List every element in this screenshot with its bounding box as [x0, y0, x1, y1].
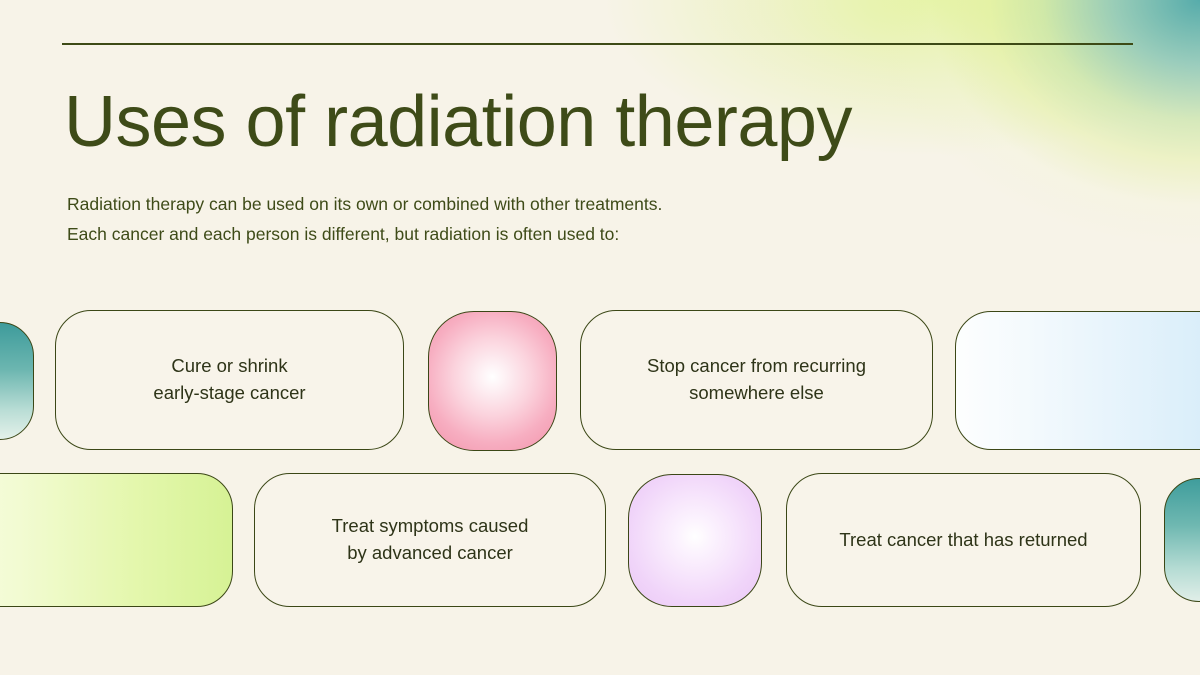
- card-stop-recurring[interactable]: Stop cancer from recurring somewhere els…: [580, 310, 933, 450]
- subtitle-line-1: Radiation therapy can be used on its own…: [67, 189, 1027, 219]
- card-treat-returned-text: Treat cancer that has returned: [821, 527, 1105, 554]
- corner-gradient-decoration: [560, 0, 1200, 330]
- card-treat-returned-line-1: Treat cancer that has returned: [839, 527, 1087, 554]
- decoration-teal-blob-left: [0, 322, 34, 440]
- decoration-pink-blob: [428, 311, 557, 451]
- card-treat-returned[interactable]: Treat cancer that has returned: [786, 473, 1141, 607]
- card-cure-shrink-text: Cure or shrink early-stage cancer: [135, 353, 323, 407]
- decoration-green-card-left: [0, 473, 233, 607]
- card-stop-recurring-line-2: somewhere else: [647, 380, 866, 407]
- card-treat-symptoms-text: Treat symptoms caused by advanced cancer: [314, 513, 547, 567]
- card-cure-shrink[interactable]: Cure or shrink early-stage cancer: [55, 310, 404, 450]
- header-divider-rule: [62, 43, 1133, 45]
- decoration-teal-blob-right: [1164, 478, 1200, 602]
- card-cure-shrink-line-1: Cure or shrink: [153, 353, 305, 380]
- subtitle-line-2: Each cancer and each person is different…: [67, 219, 1027, 249]
- page-title: Uses of radiation therapy: [64, 86, 1064, 159]
- card-treat-symptoms-line-1: Treat symptoms caused: [332, 513, 529, 540]
- card-cure-shrink-line-2: early-stage cancer: [153, 380, 305, 407]
- subtitle-block: Radiation therapy can be used on its own…: [67, 189, 1027, 249]
- card-treat-symptoms-line-2: by advanced cancer: [332, 540, 529, 567]
- card-treat-symptoms[interactable]: Treat symptoms caused by advanced cancer: [254, 473, 606, 607]
- decoration-purple-blob: [628, 474, 762, 607]
- card-stop-recurring-text: Stop cancer from recurring somewhere els…: [629, 353, 884, 407]
- decoration-blue-card-right: [955, 311, 1200, 450]
- card-stop-recurring-line-1: Stop cancer from recurring: [647, 353, 866, 380]
